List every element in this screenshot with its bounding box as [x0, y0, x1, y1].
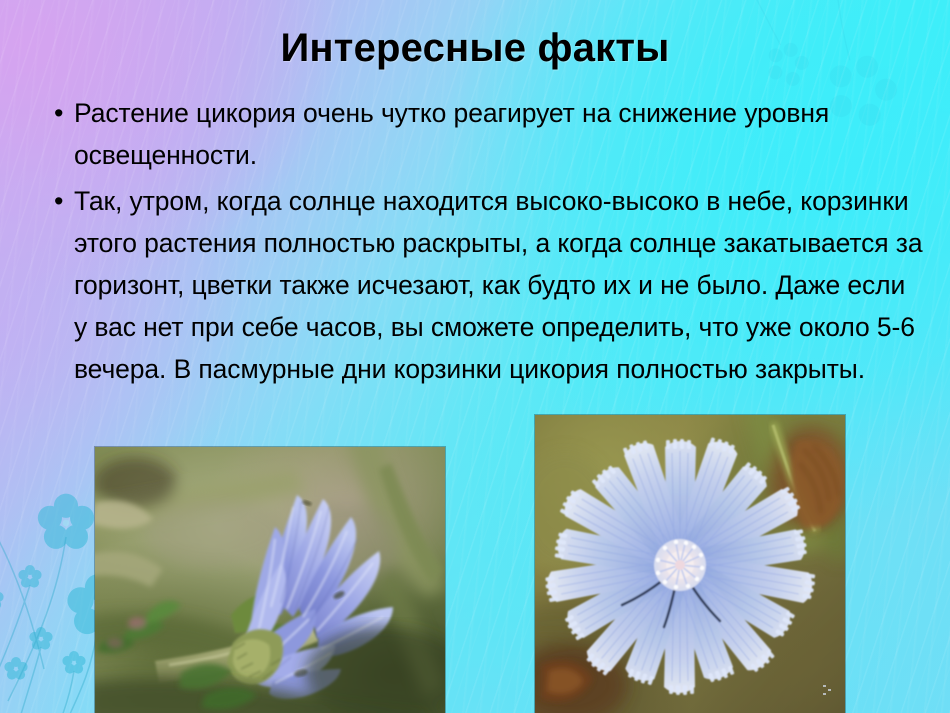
bullet-text-1: Растение цикория очень чутко реагирует н… [74, 92, 924, 176]
bullet-text-2: Так, утром, когда солнце находится высок… [74, 180, 924, 390]
bullet-marker-icon: • [44, 180, 74, 222]
chicory-open-flower-photo [535, 415, 845, 713]
slide-title: Интересные факты [0, 26, 950, 71]
chicory-bud-photo [95, 447, 445, 713]
bullet-list: • Растение цикория очень чутко реагирует… [44, 92, 924, 394]
list-item: • Так, утром, когда солнце находится выс… [44, 180, 924, 390]
slide-canvas: Интересные факты • Растение цикория очен… [0, 0, 950, 713]
bullet-marker-icon: • [44, 92, 74, 134]
list-item: • Растение цикория очень чутко реагирует… [44, 92, 924, 176]
